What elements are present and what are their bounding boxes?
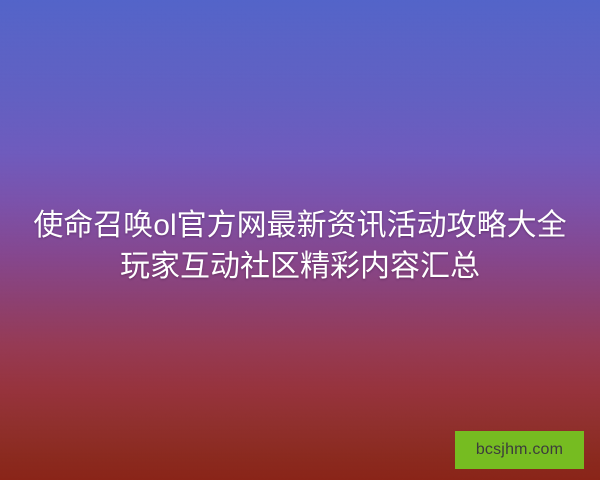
headline-line-1: 使命召唤ol官方网最新资讯活动攻略大全	[0, 205, 600, 246]
website-url-badge[interactable]: bcsjhm.com	[455, 431, 584, 469]
headline-text-block: 使命召唤ol官方网最新资讯活动攻略大全 玩家互动社区精彩内容汇总	[0, 205, 600, 287]
website-url-label: bcsjhm.com	[476, 442, 563, 458]
headline-line-2: 玩家互动社区精彩内容汇总	[0, 246, 600, 287]
promo-banner: 使命召唤ol官方网最新资讯活动攻略大全 玩家互动社区精彩内容汇总 bcsjhm.…	[0, 0, 600, 480]
